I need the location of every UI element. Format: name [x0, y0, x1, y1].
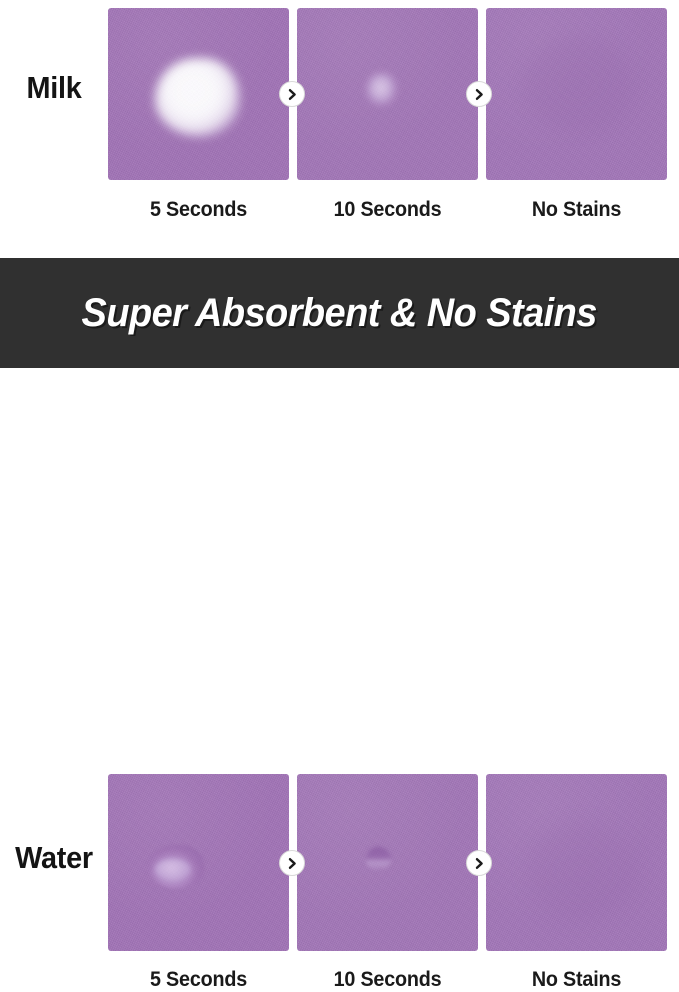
panel-strip-milk	[108, 8, 667, 180]
stain-milk-residual	[522, 36, 634, 132]
chevron-right-icon	[466, 850, 492, 876]
stain-water-residual	[526, 820, 638, 923]
headline-banner: Super Absorbent & No Stains	[0, 258, 679, 368]
caption-water-5-seconds: 5 Seconds	[113, 968, 283, 992]
chevron-right-icon	[279, 850, 305, 876]
chevron-right-icon	[279, 81, 305, 107]
stain-milk-small	[366, 73, 397, 106]
caption-strip-milk: 5 Seconds 10 Seconds No Stains	[108, 198, 667, 222]
test-row-water: Water 5 Seconds 10 Seconds No Stains	[0, 368, 679, 626]
row-label-water: Water	[4, 840, 104, 876]
fabric-panel-water-no-stains	[486, 774, 667, 951]
stain-water-bead	[148, 845, 204, 889]
fabric-panel-milk-no-stains	[486, 8, 667, 180]
caption-strip-water: 5 Seconds 10 Seconds No Stains	[108, 968, 667, 992]
row-label-milk: Milk	[4, 70, 104, 106]
panel-strip-water	[108, 774, 667, 951]
stain-water-bead-highlight	[155, 859, 191, 880]
caption-milk-10-seconds: 10 Seconds	[302, 198, 472, 222]
test-row-milk: Milk 5 Seconds 10 Seconds No Stains	[0, 0, 679, 258]
fabric-panel-milk-10-seconds	[297, 8, 478, 180]
fabric-panel-milk-5-seconds	[108, 8, 289, 180]
caption-milk-5-seconds: 5 Seconds	[113, 198, 283, 222]
stain-water-small	[366, 847, 391, 870]
fabric-panel-water-5-seconds	[108, 774, 289, 951]
caption-water-10-seconds: 10 Seconds	[302, 968, 472, 992]
fabric-panel-water-10-seconds	[297, 774, 478, 951]
chevron-right-icon	[466, 81, 492, 107]
caption-milk-no-stains: No Stains	[491, 198, 661, 222]
headline-text: Super Absorbent & No Stains	[82, 291, 597, 336]
stain-milk-large	[155, 58, 240, 137]
caption-water-no-stains: No Stains	[491, 968, 661, 992]
